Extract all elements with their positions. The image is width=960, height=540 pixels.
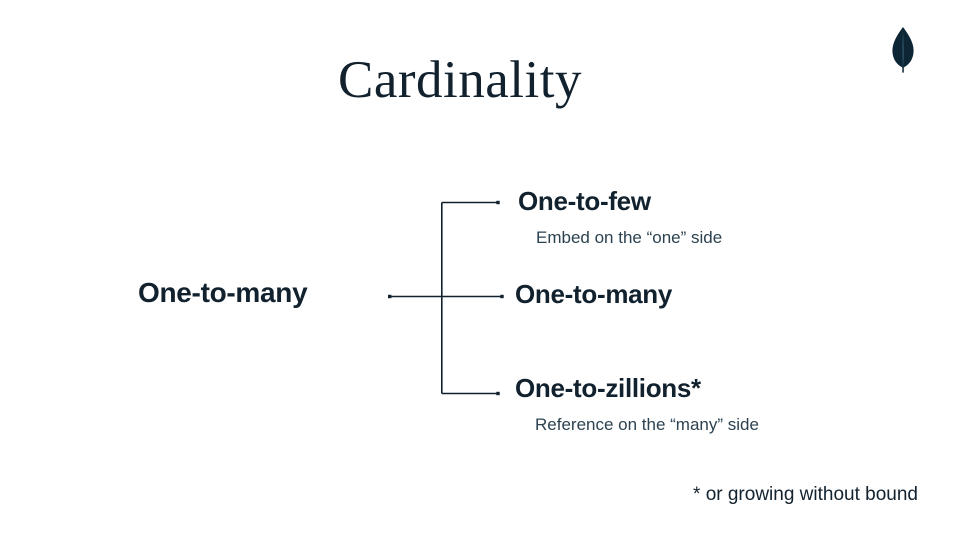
footnote-text: * or growing without bound	[0, 484, 918, 506]
page-title: Cardinality	[0, 53, 920, 109]
branch-label: One-to-zillions*	[515, 374, 759, 404]
branch-sublabel: Reference on the “many” side	[535, 415, 759, 435]
diagram-root-label: One-to-many	[138, 277, 307, 309]
diagram-branch-one-to-many: One-to-many	[515, 280, 672, 310]
slide-canvas: Cardinality One-to-many One-to-few Embed…	[0, 0, 960, 540]
branch-label: One-to-few	[518, 187, 722, 217]
diagram-branch-one-to-few: One-to-few Embed on the “one” side	[518, 187, 722, 248]
connector-dot-root	[388, 295, 391, 298]
connector-dot-branch-2	[496, 392, 499, 395]
diagram-branch-one-to-zillions: One-to-zillions* Reference on the “many”…	[515, 374, 759, 435]
connector-dot-branch-1	[500, 295, 503, 298]
branch-sublabel: Embed on the “one” side	[536, 228, 722, 248]
connector-dot-branch-0	[496, 201, 499, 204]
branch-label: One-to-many	[515, 280, 672, 310]
